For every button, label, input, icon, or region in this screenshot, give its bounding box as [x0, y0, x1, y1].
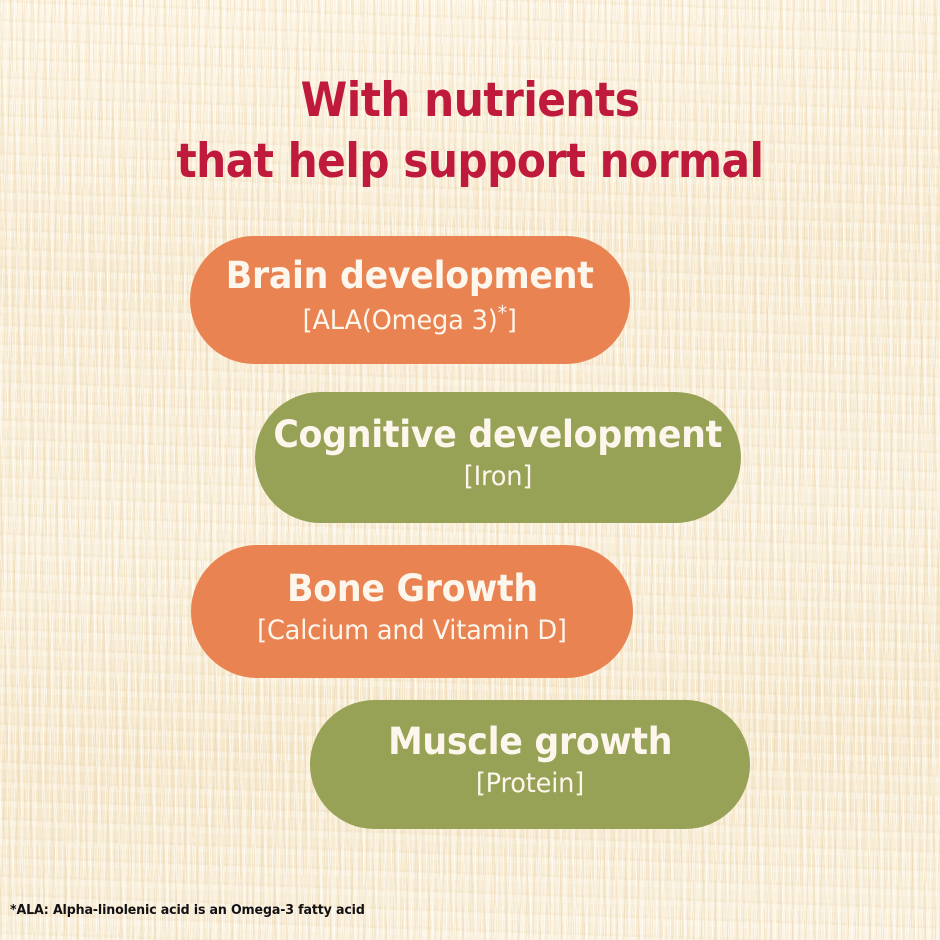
benefit-title: Cognitive development [274, 415, 723, 456]
footnote-text: *ALA: Alpha-linolenic acid is an Omega-3… [10, 903, 365, 919]
benefit-nutrient: [Iron] [464, 460, 532, 495]
benefit-nutrient-close: ] [507, 305, 517, 336]
nutrition-infographic-poster: With nutrients that help support normal … [0, 0, 940, 940]
benefit-pill-muscle-growth: Muscle growth [Protein] [310, 700, 750, 829]
benefit-nutrient: [ALA(Omega 3)*] [303, 301, 517, 339]
benefit-pill-bone-growth: Bone Growth [Calcium and Vitamin D] [191, 545, 633, 678]
benefit-nutrient-text: [ALA(Omega 3) [303, 305, 498, 336]
benefit-title: Bone Growth [287, 569, 538, 610]
headline-line-1: With nutrients [47, 70, 893, 131]
benefit-pill-brain-development: Brain development [ALA(Omega 3)*] [190, 236, 630, 364]
benefit-pill-cognitive-development: Cognitive development [Iron] [255, 392, 741, 523]
poster-content: With nutrients that help support normal … [0, 0, 940, 940]
benefit-nutrient: [Protein] [476, 767, 584, 802]
benefit-title: Brain development [226, 256, 594, 297]
footnote-asterisk-marker: * [498, 301, 507, 325]
benefit-nutrient: [Calcium and Vitamin D] [257, 614, 567, 649]
page-title: With nutrients that help support normal [47, 70, 893, 192]
benefit-title: Muscle growth [388, 722, 672, 763]
headline-line-2: that help support normal [47, 131, 893, 192]
